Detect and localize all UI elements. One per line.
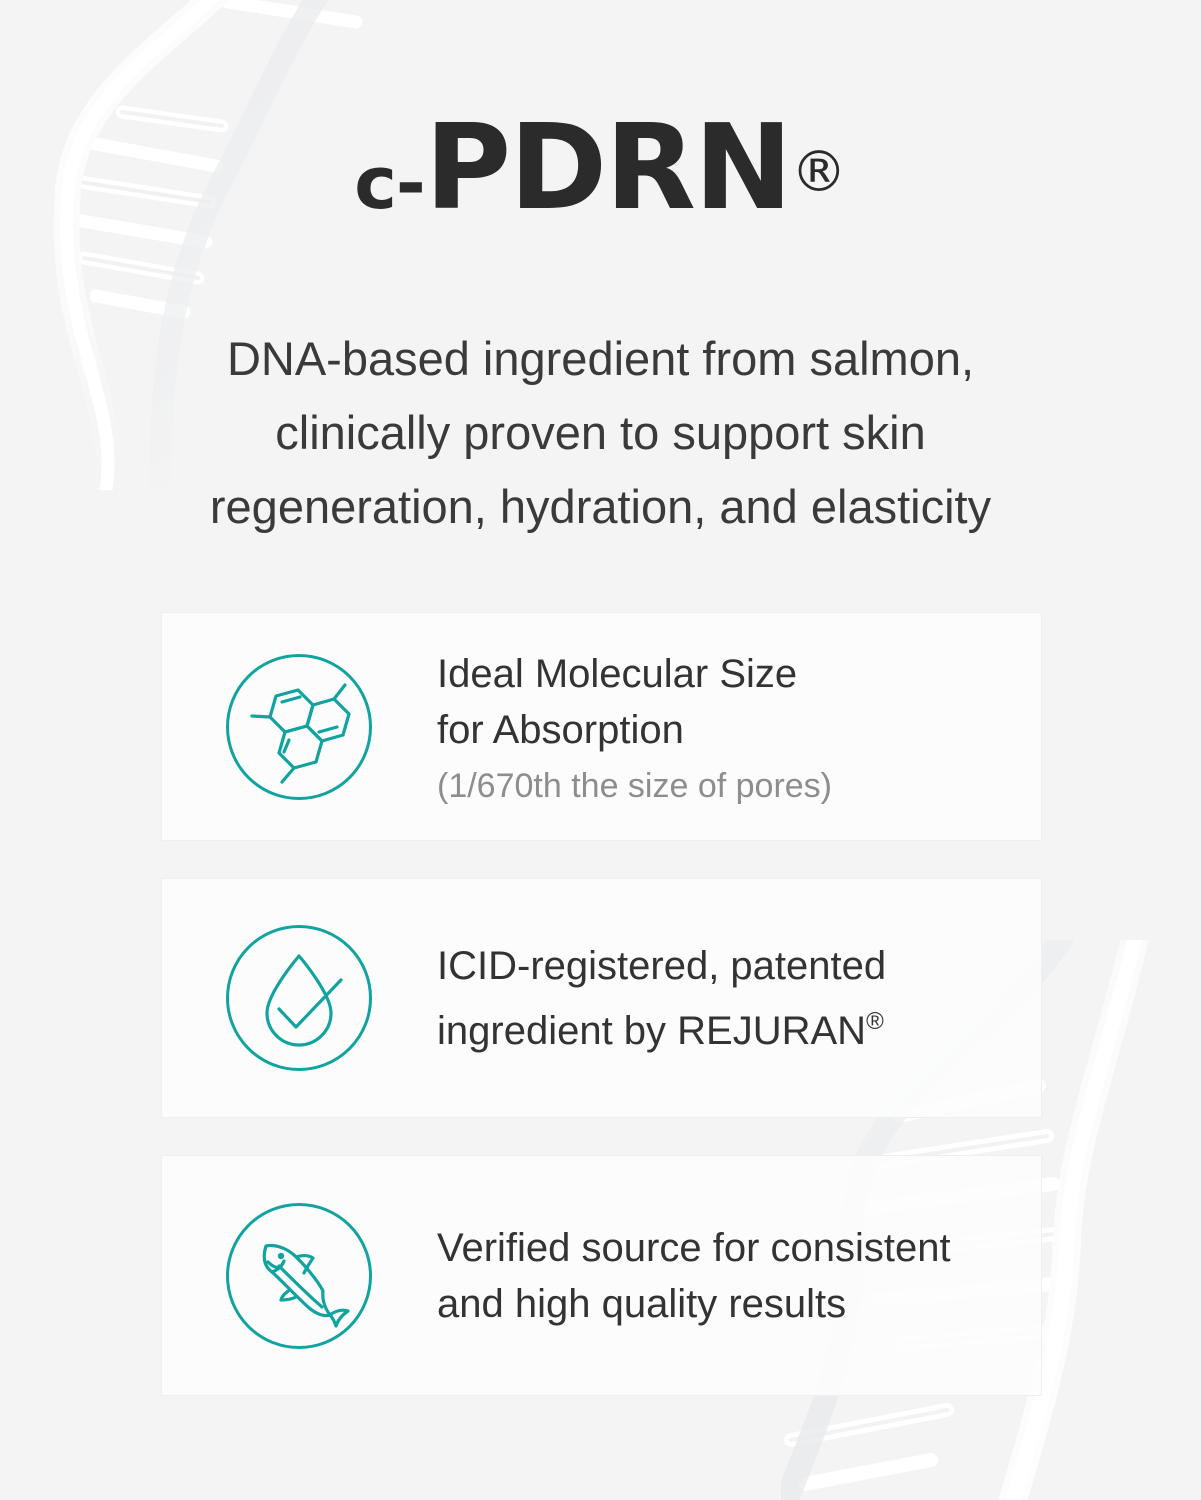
molecule-icon [224, 652, 374, 802]
feature-card-text: Ideal Molecular Size for Absorption (1/6… [374, 646, 1041, 808]
feature-heading-line-1: Verified source for consistent [437, 1220, 1041, 1276]
page-title: c-PDRN® [0, 108, 1201, 226]
feature-heading-line-2: for Absorption [437, 702, 1041, 758]
feature-heading: Ideal Molecular Size for Absorption [437, 646, 1041, 758]
product-ingredient-panel: c-PDRN® DNA-based ingredient from salmon… [0, 0, 1201, 1500]
page-subtitle: DNA-based ingredient from salmon, clinic… [0, 322, 1201, 544]
fish-icon [224, 1201, 374, 1351]
droplet-check-icon [224, 923, 374, 1073]
brand-lead: c- [354, 141, 425, 225]
feature-card-text: ICID-registered, patented ingredient by … [374, 938, 1041, 1059]
brand-title: c-PDRN® [354, 108, 847, 226]
feature-heading: Verified source for consistent and high … [437, 1220, 1041, 1332]
subtitle-line-3: regeneration, hydration, and elasticity [0, 470, 1201, 544]
feature-heading-line-2: and high quality results [437, 1276, 1041, 1332]
feature-card-text: Verified source for consistent and high … [374, 1220, 1041, 1332]
feature-subtext: (1/670th the size of pores) [437, 764, 1041, 808]
subtitle-line-2: clinically proven to support skin [0, 396, 1201, 470]
feature-card-verified-source: Verified source for consistent and high … [161, 1155, 1042, 1396]
feature-card-molecular-size: Ideal Molecular Size for Absorption (1/6… [161, 612, 1042, 841]
registered-mark-icon: ® [791, 140, 847, 205]
subtitle-line-1: DNA-based ingredient from salmon, [0, 322, 1201, 396]
feature-heading-line-1: ICID-registered, patented [437, 938, 1041, 994]
feature-heading-line-2: ingredient by REJURAN® [437, 994, 1041, 1059]
feature-heading-line-2-text: ingredient by REJURAN [437, 1009, 866, 1053]
registered-mark-icon: ® [866, 1008, 884, 1035]
feature-heading: ICID-registered, patented ingredient by … [437, 938, 1041, 1059]
feature-card-icid-registered: ICID-registered, patented ingredient by … [161, 878, 1042, 1118]
brand-name: PDRN [425, 98, 791, 236]
feature-card-list: Ideal Molecular Size for Absorption (1/6… [161, 612, 1042, 1396]
feature-heading-line-1: Ideal Molecular Size [437, 646, 1041, 702]
